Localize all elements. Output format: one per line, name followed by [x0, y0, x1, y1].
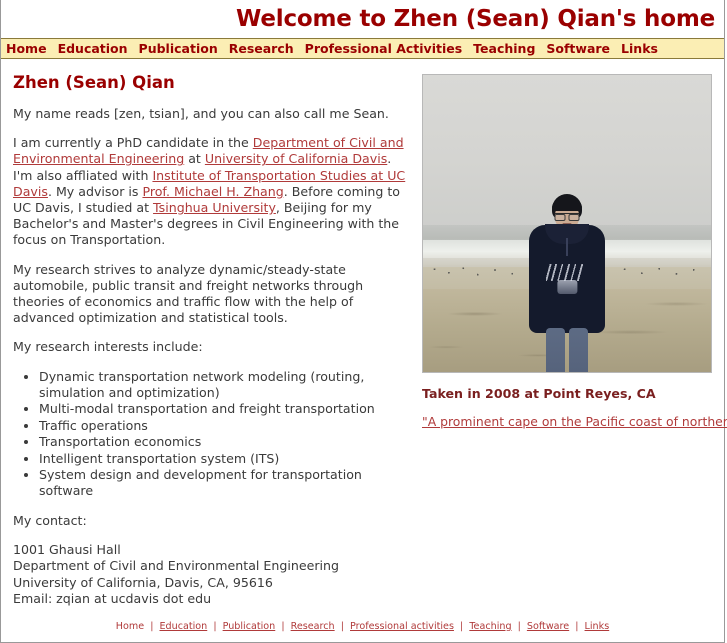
- footer-navigation: Home | Education | Publication | Researc…: [1, 607, 724, 642]
- bio-text-4: . My advisor is: [48, 184, 143, 199]
- footer-separator: |: [460, 621, 463, 632]
- footer-item-teaching[interactable]: Teaching: [469, 621, 511, 632]
- bio-paragraph: I am currently a PhD candidate in the De…: [13, 135, 413, 248]
- nav-item-software[interactable]: Software: [546, 41, 610, 56]
- contact-department-line: Department of Civil and Environmental En…: [13, 558, 413, 574]
- footer-item-publication[interactable]: Publication: [223, 621, 276, 632]
- nav-item-research[interactable]: Research: [229, 41, 294, 56]
- footer-item-links[interactable]: Links: [585, 621, 610, 632]
- photo-description-link[interactable]: "A prominent cape on the Pacific coast o…: [422, 414, 727, 429]
- contact-lead: My contact:: [13, 513, 413, 529]
- left-column: Zhen (Sean) Qian My name reads [zen, tsi…: [13, 73, 413, 607]
- list-item: Traffic operations: [39, 418, 413, 434]
- link-uc-davis[interactable]: University of California Davis: [205, 151, 387, 166]
- footer-item-education[interactable]: Education: [159, 621, 207, 632]
- contact-details: 1001 Ghausi Hall Department of Civil and…: [13, 542, 413, 607]
- site-header: Welcome to Zhen (Sean) Qian's home: [1, 0, 724, 38]
- owner-name-heading: Zhen (Sean) Qian: [13, 73, 413, 92]
- person-hoodie-logo: [546, 264, 588, 281]
- footer-separator: |: [150, 621, 153, 632]
- photo-caption: Taken in 2008 at Point Reyes, CA: [422, 386, 727, 401]
- research-interests-list: Dynamic transportation network modeling …: [13, 369, 413, 500]
- list-item: System design and development for transp…: [39, 467, 413, 500]
- footer-separator: |: [341, 621, 344, 632]
- footer-separator: |: [518, 621, 521, 632]
- list-item: Dynamic transportation network modeling …: [39, 369, 413, 402]
- contact-email-line: Email: zqian at ucdavis dot edu: [13, 591, 413, 607]
- bio-text-2: at: [184, 151, 205, 166]
- intro-paragraph: My name reads [zen, tsian], and you can …: [13, 106, 413, 122]
- person-hoodie-logo-secondary: [557, 280, 577, 294]
- footer-separator: |: [213, 621, 216, 632]
- nav-item-publication[interactable]: Publication: [139, 41, 218, 56]
- right-column: Taken in 2008 at Point Reyes, CA "A prom…: [413, 73, 727, 430]
- page-title: Welcome to Zhen (Sean) Qian's home: [236, 6, 715, 32]
- footer-item-software[interactable]: Software: [527, 621, 569, 632]
- footer-item-professional-activities[interactable]: Professional activities: [350, 621, 454, 632]
- nav-item-home[interactable]: Home: [6, 41, 47, 56]
- person-fringe: [552, 200, 582, 211]
- footer-item-home[interactable]: Home: [116, 621, 144, 632]
- profile-photo: [422, 74, 712, 373]
- person-leg-right: [569, 328, 588, 373]
- footer-separator: |: [281, 621, 284, 632]
- person-leg-left: [546, 328, 565, 373]
- bio-text-1: I am currently a PhD candidate in the: [13, 135, 253, 150]
- page-container: Welcome to Zhen (Sean) Qian's home Home …: [0, 0, 725, 643]
- glasses-icon: [555, 213, 580, 220]
- content-area: Zhen (Sean) Qian My name reads [zen, tsi…: [1, 59, 724, 607]
- link-tsinghua-university[interactable]: Tsinghua University: [153, 200, 276, 215]
- contact-university-line: University of California, Davis, CA, 956…: [13, 575, 413, 591]
- list-item: Intelligent transportation system (ITS): [39, 451, 413, 467]
- main-navigation: Home Education Publication Research Prof…: [1, 38, 724, 59]
- research-statement: My research strives to analyze dynamic/s…: [13, 262, 413, 327]
- interests-lead: My research interests include:: [13, 339, 413, 355]
- footer-separator: |: [575, 621, 578, 632]
- nav-item-links[interactable]: Links: [621, 41, 658, 56]
- list-item: Multi-modal transportation and freight t…: [39, 401, 413, 417]
- nav-item-education[interactable]: Education: [58, 41, 128, 56]
- list-item: Transportation economics: [39, 434, 413, 450]
- nav-item-professional-activities[interactable]: Professional Activities: [305, 41, 463, 56]
- footer-item-research[interactable]: Research: [291, 621, 335, 632]
- link-prof-michael-zhang[interactable]: Prof. Michael H. Zhang: [142, 184, 283, 199]
- person-hoodie-zipper: [566, 238, 568, 256]
- nav-item-teaching[interactable]: Teaching: [473, 41, 535, 56]
